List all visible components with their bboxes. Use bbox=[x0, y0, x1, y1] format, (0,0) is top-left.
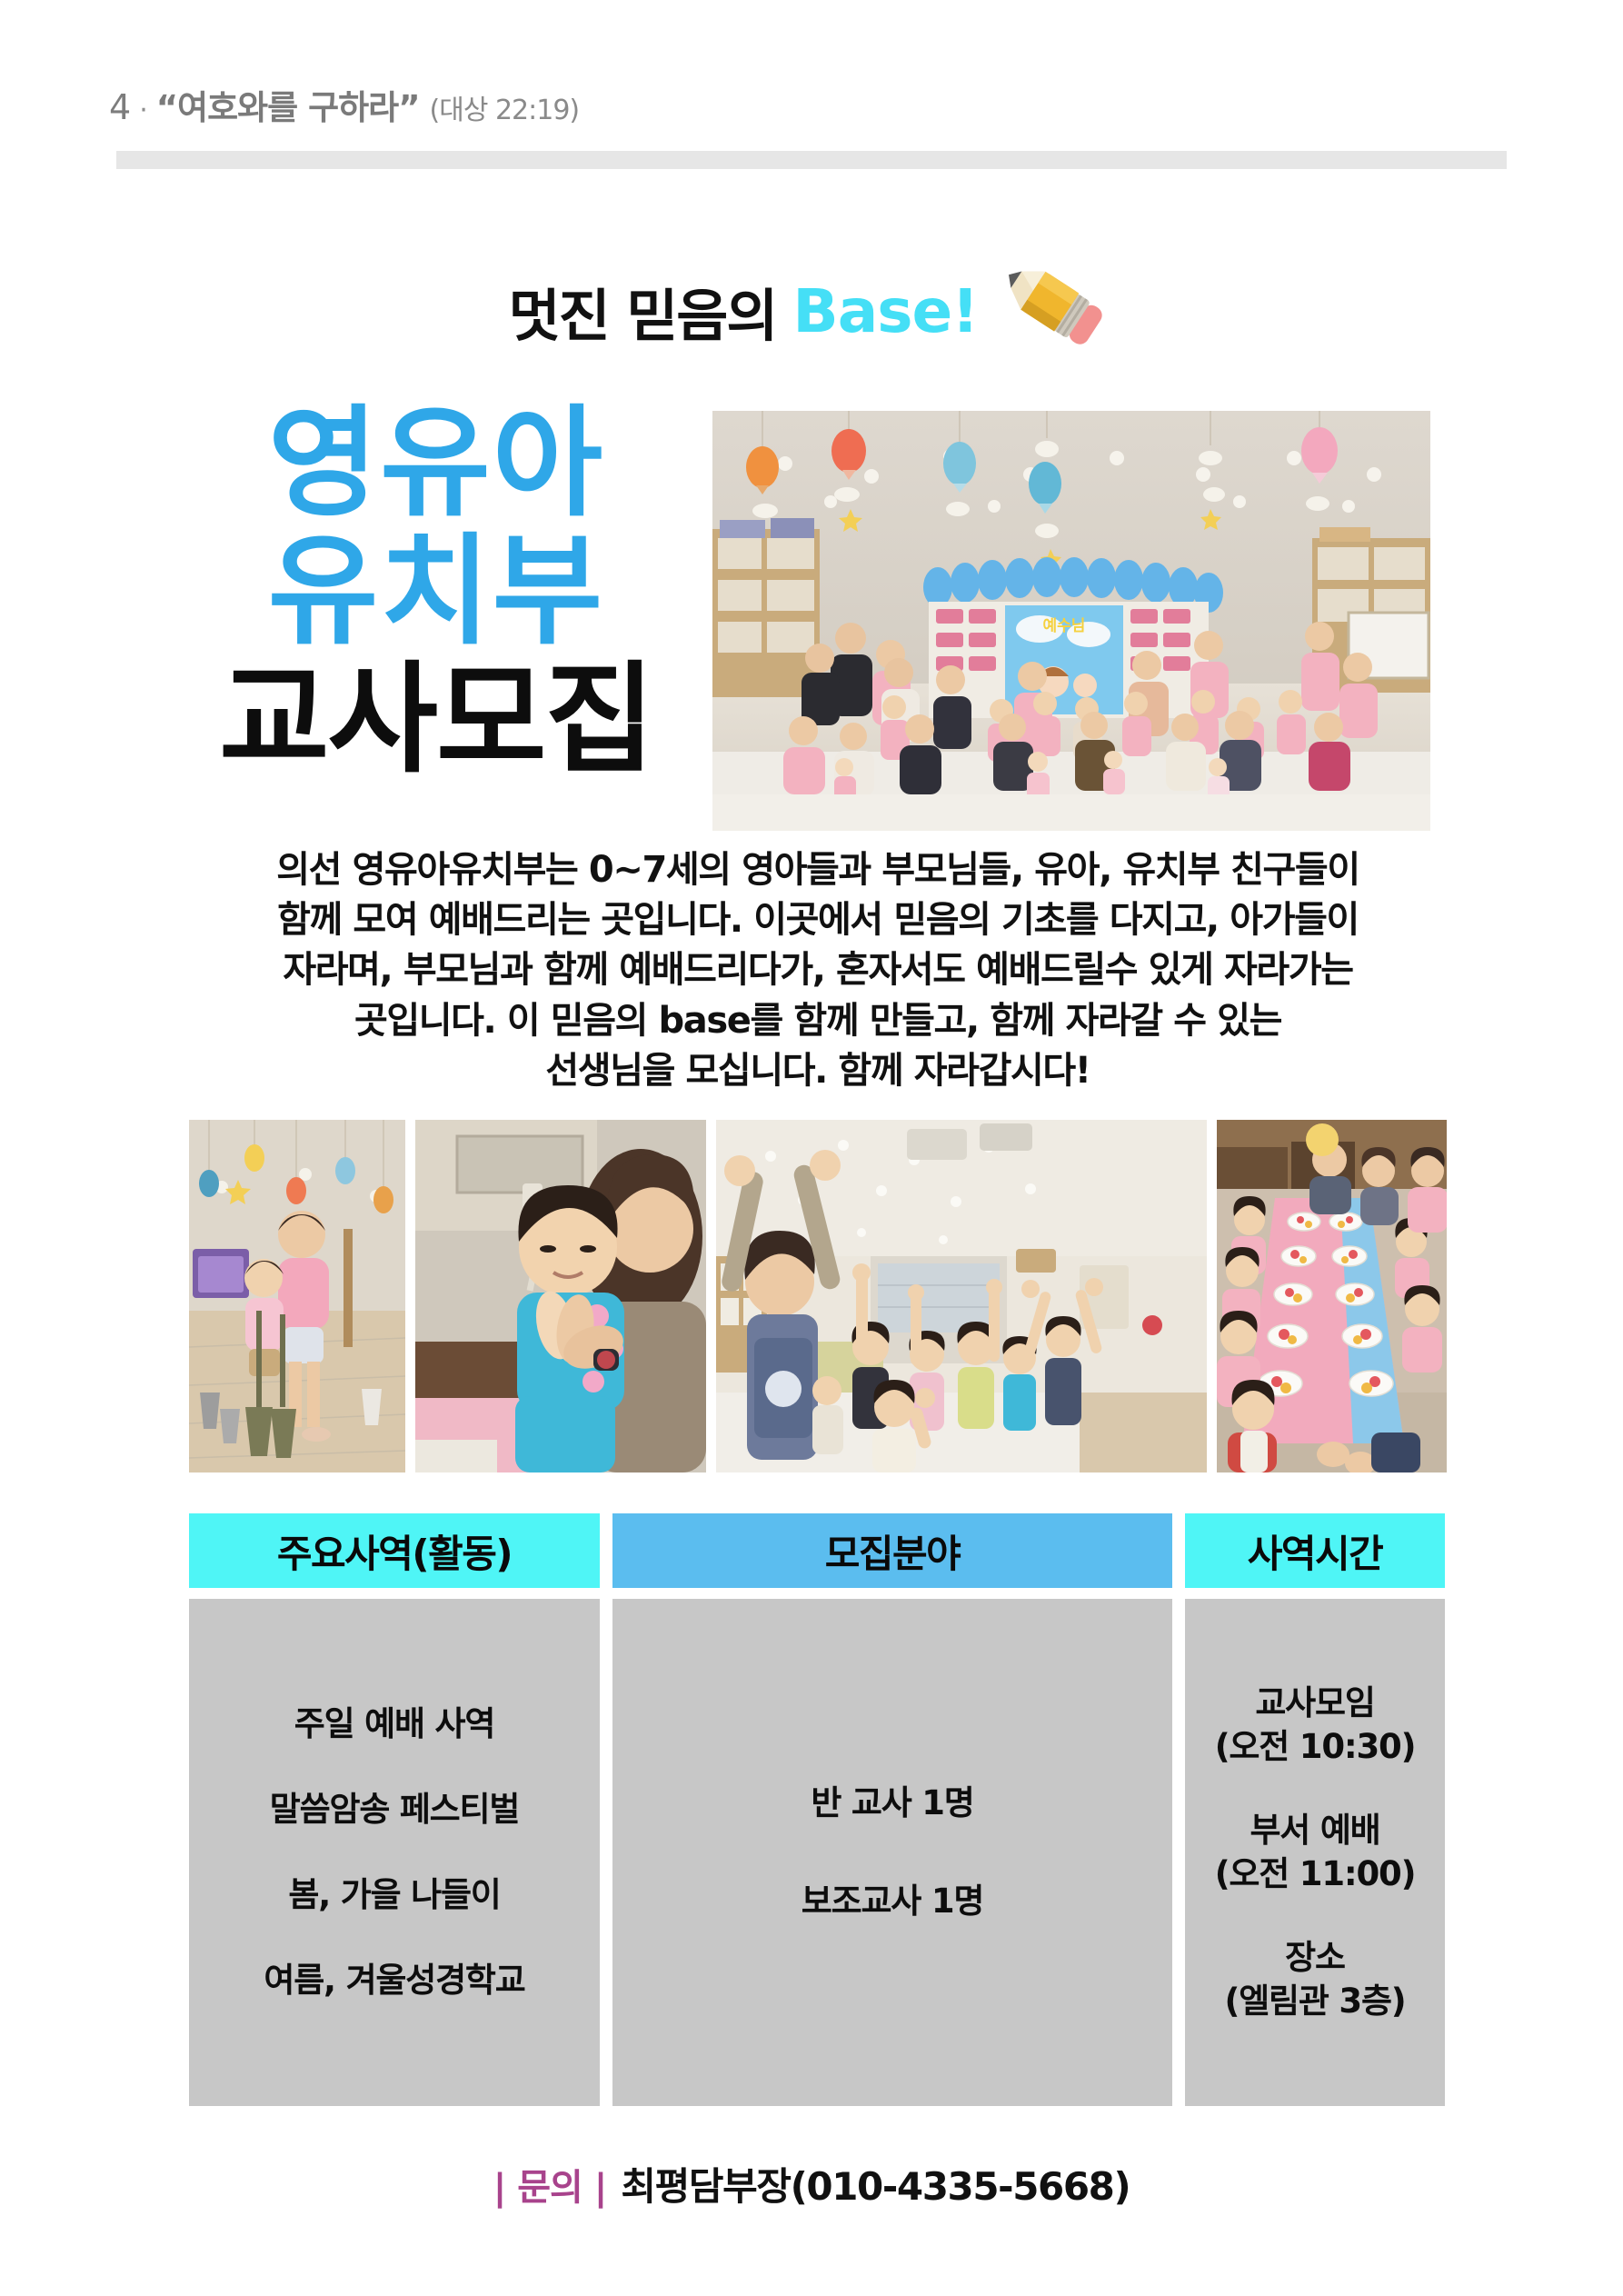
hero-group-photo: 예수님 bbox=[712, 411, 1430, 831]
intro-line-2: 함께 모여 예배드리는 곳입니다. 이곳에서 믿음의 기초를 다지고, 아가들이 bbox=[182, 895, 1454, 945]
title-line-2: 유치부 bbox=[154, 528, 718, 656]
intro-line-4: 곳입니다. 이 믿음의 base를 함께 만들고, 함께 자라갈 수 있는 bbox=[182, 996, 1454, 1046]
table-cell-recruit-field: 반 교사 1명 보조교사 1명 bbox=[612, 1599, 1172, 2106]
activity-photo-snacktime bbox=[1217, 1120, 1447, 1472]
tagline-accent-text: Base! bbox=[792, 276, 978, 346]
ministry-item-1: 주일 예배 사역 bbox=[294, 1702, 494, 1746]
schedule-item-1: 교사모임 (오전 10:30) bbox=[1215, 1682, 1416, 1769]
poster-title: 영유아 유치부 교사모집 bbox=[154, 400, 718, 785]
contact-label: | 문의 | bbox=[493, 2158, 607, 2211]
contact-footer: | 문의 | 최평담부장(010-4335-5668) bbox=[0, 2156, 1623, 2211]
header-verse-reference: (대상 22:19) bbox=[420, 87, 580, 127]
header-separator: · bbox=[131, 95, 156, 126]
page-number: 4 bbox=[109, 87, 131, 127]
table-body-row: 주일 예배 사역 말씀암송 페스티벌 봄, 가을 나들이 여름, 겨울성경학교 … bbox=[189, 1599, 1445, 2106]
info-table: 주요사역(활동) 모집분야 사역시간 주일 예배 사역 말씀암송 페스티벌 봄,… bbox=[189, 1513, 1445, 2106]
recruit-item-1: 반 교사 1명 bbox=[811, 1782, 973, 1825]
schedule-item-1-detail: (오전 10:30) bbox=[1215, 1725, 1416, 1769]
title-line-1: 영유아 bbox=[154, 400, 718, 528]
table-header-row: 주요사역(활동) 모집분야 사역시간 bbox=[189, 1513, 1445, 1588]
title-line-3: 교사모집 bbox=[154, 656, 718, 784]
poster-page: 4 · “여호와를 구하라” (대상 22:19) 멋진 믿음의 Base! bbox=[0, 0, 1623, 2296]
page-header: 4 · “여호와를 구하라” (대상 22:19) bbox=[109, 80, 579, 129]
table-cell-main-ministry: 주일 예배 사역 말씀암송 페스티벌 봄, 가을 나들이 여름, 겨울성경학교 bbox=[189, 1599, 600, 2106]
intro-line-1: 의선 영유아유치부는 0~7세의 영아들과 부모님들, 유아, 유치부 친구들이 bbox=[182, 845, 1454, 895]
schedule-item-2: 부서 예배 (오전 11:00) bbox=[1215, 1809, 1416, 1896]
schedule-item-2-title: 부서 예배 bbox=[1215, 1809, 1416, 1852]
tagline: 멋진 믿음의 Base! bbox=[0, 265, 1623, 356]
schedule-item-2-detail: (오전 11:00) bbox=[1215, 1852, 1416, 1896]
schedule-item-3-detail: (엘림관 3층) bbox=[1224, 1980, 1405, 2023]
intro-line-3: 자라며, 부모님과 함께 예배드리다가, 혼자서도 예배드릴수 있게 자라가는 bbox=[182, 945, 1454, 995]
intro-line-5: 선생님을 모십니다. 함께 자라갑시다! bbox=[182, 1046, 1454, 1096]
activity-photo-worship bbox=[716, 1120, 1207, 1472]
svg-text:예수님: 예수님 bbox=[1043, 617, 1086, 635]
contact-person: 최평담부장(010-4335-5668) bbox=[621, 2156, 1130, 2211]
ministry-item-3: 봄, 가을 나들이 bbox=[288, 1873, 500, 1917]
activity-photo-praying bbox=[415, 1120, 706, 1472]
table-header-main-ministry: 주요사역(활동) bbox=[189, 1513, 600, 1588]
ministry-item-2: 말씀암송 페스티벌 bbox=[270, 1788, 519, 1832]
activity-photo-stilts bbox=[189, 1120, 405, 1472]
table-header-ministry-time: 사역시간 bbox=[1185, 1513, 1445, 1588]
header-divider bbox=[116, 151, 1507, 169]
photo-strip bbox=[189, 1120, 1445, 1472]
tagline-text: 멋진 믿음의 bbox=[509, 270, 777, 352]
header-verse-quote: “여호와를 구하라” bbox=[156, 80, 420, 129]
schedule-item-1-title: 교사모임 bbox=[1215, 1682, 1416, 1725]
pencil-icon bbox=[998, 255, 1114, 356]
intro-paragraph: 의선 영유아유치부는 0~7세의 영아들과 부모님들, 유아, 유치부 친구들이… bbox=[182, 845, 1454, 1096]
ministry-item-4: 여름, 겨울성경학교 bbox=[264, 1959, 524, 2002]
table-header-recruit-field: 모집분야 bbox=[612, 1513, 1172, 1588]
schedule-item-3: 장소 (엘림관 3층) bbox=[1224, 1936, 1405, 2023]
schedule-item-3-title: 장소 bbox=[1224, 1936, 1405, 1980]
table-cell-ministry-time: 교사모임 (오전 10:30) 부서 예배 (오전 11:00) 장소 (엘림관… bbox=[1185, 1599, 1445, 2106]
recruit-item-2: 보조교사 1명 bbox=[802, 1880, 983, 1923]
